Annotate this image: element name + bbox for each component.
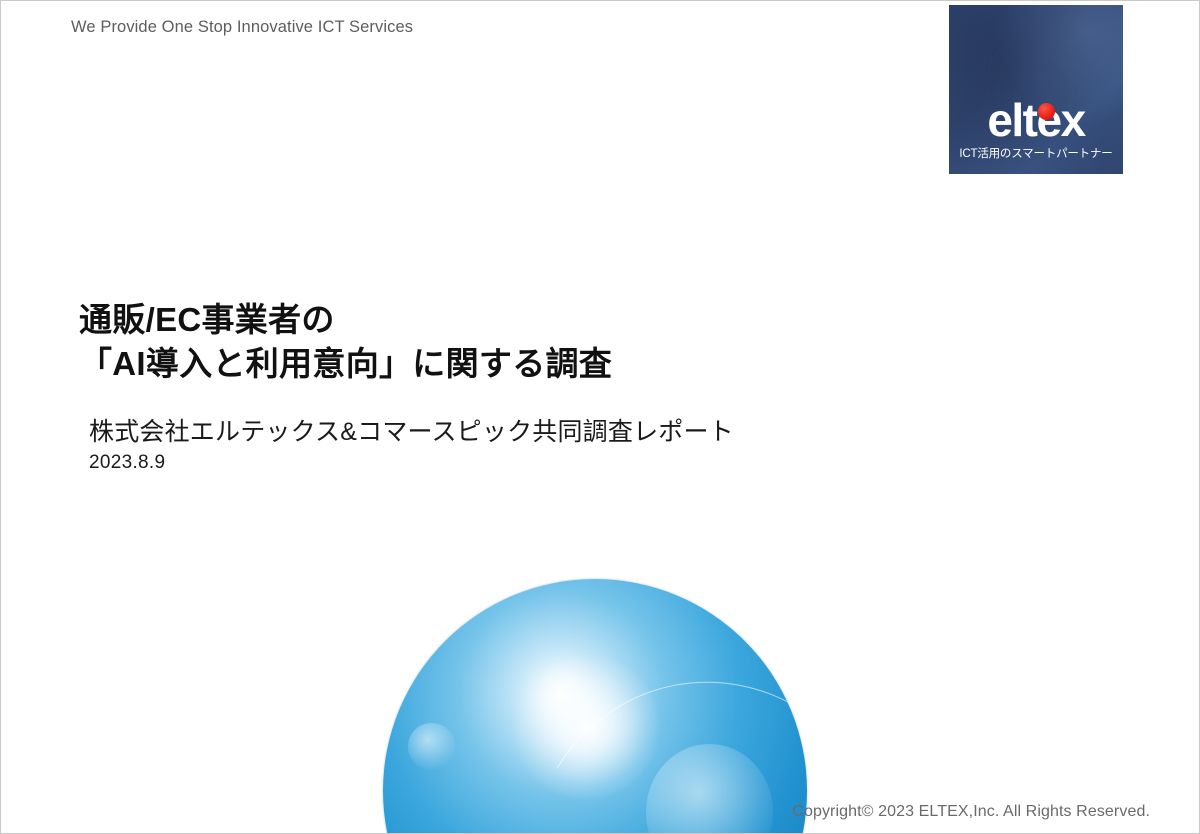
logo-red-dot-icon	[1038, 103, 1055, 120]
page-title-line-2: 「AI導入と利用意向」に関する調査	[79, 342, 612, 386]
logo-wordmark: eltex	[949, 97, 1123, 143]
logo-tagline: ICT活用のスマートパートナー	[949, 145, 1123, 161]
title-slide: We Provide One Stop Innovative ICT Servi…	[0, 0, 1200, 834]
page-subtitle: 株式会社エルテックス&コマースピック共同調査レポート	[89, 412, 734, 448]
header-tagline: We Provide One Stop Innovative ICT Servi…	[71, 18, 413, 37]
page-title-line-1: 通販/EC事業者の	[79, 298, 612, 342]
copyright-notice: Copyright© 2023 ELTEX,Inc. All Rights Re…	[792, 803, 1150, 821]
globe-sphere-icon	[383, 579, 807, 834]
eltex-logo: eltex ICT活用のスマートパートナー	[949, 5, 1123, 174]
globe-graphic	[383, 579, 807, 834]
report-date: 2023.8.9	[89, 452, 165, 474]
page-title: 通販/EC事業者の 「AI導入と利用意向」に関する調査	[79, 298, 612, 385]
